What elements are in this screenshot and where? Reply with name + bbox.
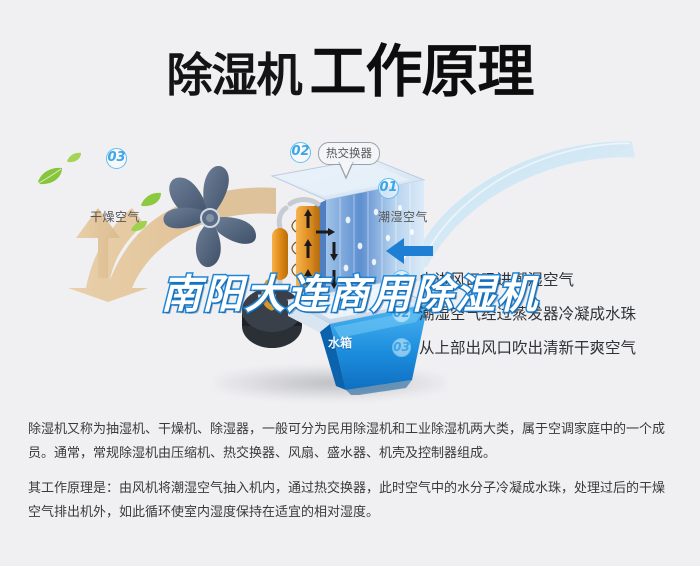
step-badge-03: 03: [392, 338, 411, 357]
label-water-tank: 水箱: [328, 334, 352, 351]
step-text-02: 潮湿空气经过蒸发器冷凝成水珠: [419, 302, 636, 324]
step-list: 01 由进风口吸进潮湿空气 02 潮湿空气经过蒸发器冷凝成水珠 03 从上部出风…: [392, 262, 692, 364]
poster-root: 除湿机工作原理: [0, 0, 700, 566]
list-item: 03 从上部出风口吹出清新干爽空气: [392, 330, 692, 364]
leaf-icon: [36, 166, 64, 186]
badge-humid-air: 01: [378, 178, 399, 199]
step-badge-01: 01: [392, 270, 411, 289]
step-text-01: 由进风口吸进潮湿空气: [419, 268, 574, 290]
page-title: 除湿机工作原理: [0, 26, 700, 108]
badge-dry-air: 03: [106, 148, 127, 169]
body-paragraph-1: 除湿机又称为抽湿机、干燥机、除湿器，一般可分为民用除湿机和工业除湿机两大类，属于…: [28, 418, 676, 466]
body-paragraph-2: 其工作原理是：由风机将潮湿空气抽入机内，通过热交换器，此时空气中的水分子冷凝成水…: [28, 477, 676, 525]
label-dry-air: 干燥空气: [90, 208, 140, 225]
leaf-icon: [66, 152, 82, 164]
page-title-part2: 工作原理: [310, 39, 534, 105]
list-item: 01 由进风口吸进潮湿空气: [392, 262, 692, 296]
badge-heat-exchanger: 02: [290, 142, 311, 163]
step-text-03: 从上部出风口吹出清新干爽空气: [419, 336, 636, 358]
bubble-tail-icon: [337, 162, 355, 180]
page-title-part1: 除湿机: [167, 48, 302, 102]
label-humid-air: 潮湿空气: [378, 208, 428, 225]
step-badge-02: 02: [392, 304, 411, 323]
list-item: 02 潮湿空气经过蒸发器冷凝成水珠: [392, 296, 692, 330]
